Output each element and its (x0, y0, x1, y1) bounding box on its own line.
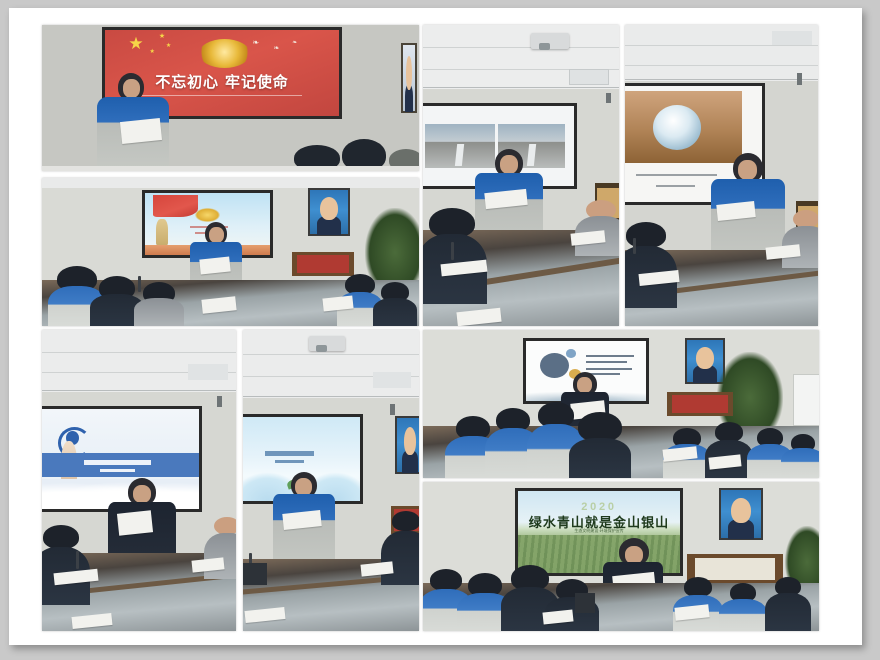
audience-group (423, 565, 819, 631)
projector-screen (42, 406, 202, 512)
bubble-large (540, 353, 569, 378)
wall-frame (401, 43, 417, 113)
photo-3[interactable] (423, 25, 619, 326)
audience-member (575, 200, 619, 256)
wall-portrait (308, 188, 350, 236)
ceiling-projector-icon (531, 33, 569, 49)
photo-7[interactable] (423, 330, 819, 478)
slide-green-landscape: 2020 绿水青山就是金山银山 生态文明建设·环境保护宣传 (518, 491, 680, 573)
gold-emblem-icon (195, 208, 220, 222)
photo-collage: ★ ★ ★ ★ ❧ ❧ ❧ 不忘初心 牢记使命 (9, 8, 862, 645)
slide-year: 2020 (518, 501, 680, 513)
audience-group (42, 261, 419, 326)
slide-subtitle: 生态文明建设·环境保护宣传 (518, 528, 680, 534)
ceiling-projector-icon (309, 336, 345, 351)
bubble-small-blue (566, 349, 577, 358)
audience-member (423, 208, 487, 304)
audience-member (625, 222, 677, 308)
audience-member (782, 210, 818, 268)
photo-8[interactable]: 2020 绿水青山就是金山银山 生态文明建设·环境保护宣传 (423, 482, 819, 631)
audience-group (423, 413, 819, 478)
red-flag-icon (153, 195, 198, 216)
photo-6[interactable] (243, 330, 419, 631)
statue-icon (156, 219, 167, 245)
photo-5[interactable] (42, 330, 236, 631)
wall-portrait (395, 416, 419, 474)
photo-2[interactable] (42, 178, 419, 326)
audience-member (42, 525, 90, 605)
wall-portrait (719, 488, 763, 540)
water-globe-icon (653, 105, 701, 150)
handheld-paper (120, 118, 162, 144)
slide-blue-hand (42, 409, 199, 509)
party-emblem-icon (199, 39, 250, 68)
photo-4[interactable] (625, 25, 818, 326)
collage-page: ★ ★ ★ ★ ❧ ❧ ❧ 不忘初心 牢记使命 (9, 8, 862, 645)
photo-1[interactable]: ★ ★ ★ ★ ❧ ❧ ❧ 不忘初心 牢记使命 (42, 25, 419, 171)
